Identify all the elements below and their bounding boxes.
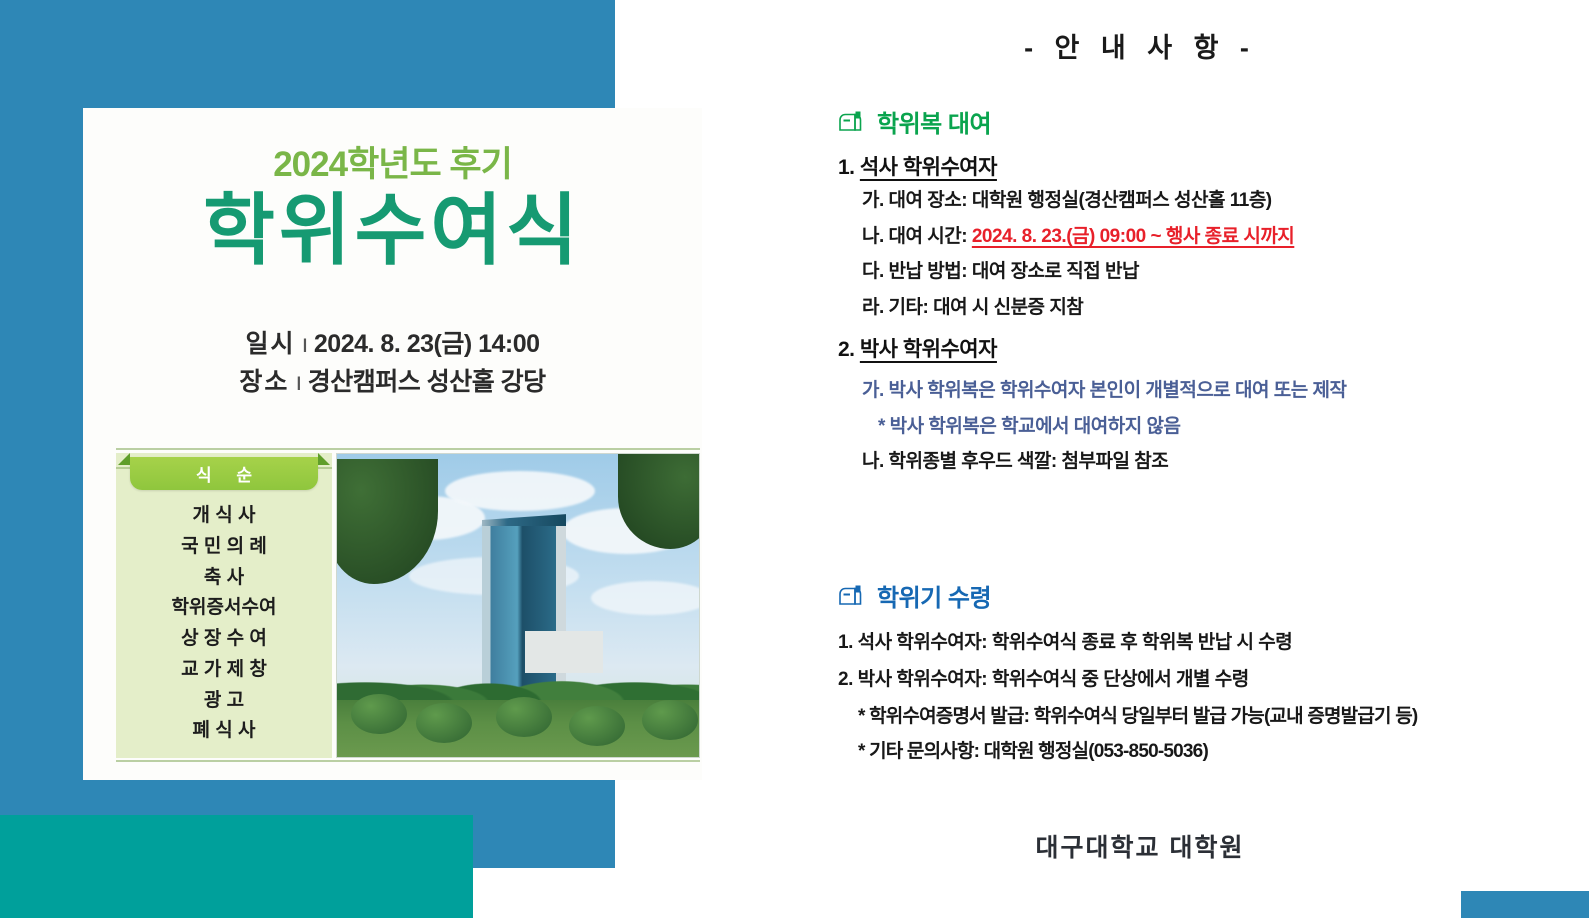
pickup-master-line: 1. 석사 학위수여자: 학위수여식 종료 후 학위복 반납 시 수령 [838, 627, 1538, 654]
section-2-header: 학위기 수령 [838, 578, 1538, 613]
background-teal-block [0, 815, 473, 918]
program-item: 학위증서수여 [116, 593, 332, 624]
poster-title: 학위수여식 [83, 186, 702, 276]
program-item: 국 민 의 례 [116, 532, 332, 563]
rental-time-prefix: 나. 대여 시간: [862, 226, 972, 247]
program-banner-label: 식 순 [130, 457, 318, 490]
rental-place-line: 가. 대여 장소: 대학원 행정실(경산캠퍼스 성산홀 11층) [862, 187, 1538, 215]
rental-time-highlight: 2024. 8. 23.(금) 09:00 ~ 행사 종료 시까지 [972, 226, 1294, 247]
rental-time-line: 나. 대여 시간: 2024. 8. 23.(금) 09:00 ~ 행사 종료 … [862, 223, 1538, 251]
poster-year-line: 2024학년도 후기 [83, 136, 702, 187]
item-number: 2. [838, 338, 855, 361]
program-item: 축 사 [116, 563, 332, 594]
info-column: - 안 내 사 항 - 학위복 대여 1. 석사 학위수여자 가. 대여 [790, 0, 1580, 918]
section-1-item-1-number: 1. 석사 학위수여자 [838, 151, 1538, 181]
section-1-header: 학위복 대여 [838, 104, 1538, 139]
item-number: 1. [838, 156, 855, 179]
section-1-item-2-number: 2. 박사 학위수여자 [838, 333, 1538, 363]
program-order-list: 개 식 사 국 민 의 례 축 사 학위증서수여 상 장 수 여 교 가 제 창… [116, 501, 332, 747]
section-gown-rental: 학위복 대여 1. 석사 학위수여자 가. 대여 장소: 대학원 행정실(경산캠… [838, 104, 1538, 484]
program-item: 상 장 수 여 [116, 624, 332, 655]
item-label: 박사 학위수여자 [860, 338, 997, 361]
poster-meta: 일시ı2024. 8. 23(금) 14:00 장소ı경산캠퍼스 성산홀 강당 [83, 326, 702, 401]
rental-other-line: 라. 기타: 대여 시 신분증 지참 [862, 294, 1538, 322]
poster-sep-2: ı [289, 368, 307, 396]
program-item: 개 식 사 [116, 501, 332, 532]
doctoral-gown-line: 가. 박사 학위복은 학위수여자 본인이 개별적으로 대여 또는 제작 [862, 377, 1538, 405]
section-diploma-pickup: 학위기 수령 1. 석사 학위수여자: 학위수여식 종료 후 학위복 반납 시 … [838, 578, 1538, 771]
poster-place-row: 장소ı경산캠퍼스 성산홀 강당 [83, 364, 702, 402]
poster-datetime-row: 일시ı2024. 8. 23(금) 14:00 [83, 326, 702, 364]
program-item: 교 가 제 창 [116, 655, 332, 686]
poster-place-value: 경산캠퍼스 성산홀 강당 [308, 368, 546, 396]
rental-return-line: 다. 반납 방법: 대여 장소로 직접 반납 [862, 258, 1538, 286]
poster-sep-1: ı [295, 330, 313, 358]
section-2-heading: 학위기 수령 [877, 578, 991, 613]
section-1-heading: 학위복 대여 [877, 104, 991, 139]
event-poster-card: 2024학년도 후기 학위수여식 일시ı2024. 8. 23(금) 14:00… [83, 108, 702, 780]
poster-divider-top [116, 448, 700, 450]
program-order-panel: 식 순 개 식 사 국 민 의 례 축 사 학위증서수여 상 장 수 여 교 가… [116, 453, 332, 758]
mailbox-icon [838, 111, 864, 133]
item-label: 석사 학위수여자 [860, 156, 997, 179]
mailbox-icon [838, 585, 864, 607]
pickup-doctoral-line: 2. 박사 학위수여자: 학위수여식 중 단상에서 개별 수령 [838, 664, 1538, 691]
certificate-issue-note: * 학위수여증명서 발급: 학위수여식 당일부터 발급 가능(교내 증명발급기 … [858, 701, 1538, 728]
footer-organization: 대구대학교 대학원 [790, 828, 1490, 864]
contact-note: * 기타 문의사항: 대학원 행정실(053-850-5036) [858, 736, 1538, 763]
hood-color-line: 나. 학위종별 후우드 색깔: 첨부파일 참조 [862, 448, 1538, 476]
poster-divider-bottom [116, 760, 700, 762]
campus-photo [336, 453, 700, 758]
poster-bottom-row: 식 순 개 식 사 국 민 의 례 축 사 학위증서수여 상 장 수 여 교 가… [116, 453, 700, 758]
doctoral-gown-note: * 박사 학위복은 학교에서 대여하지 않음 [878, 413, 1538, 441]
program-item: 광 고 [116, 686, 332, 717]
program-item: 폐 식 사 [116, 716, 332, 747]
poster-place-label: 장소 [239, 368, 289, 396]
slide-canvas: 2024학년도 후기 학위수여식 일시ı2024. 8. 23(금) 14:00… [0, 0, 1589, 918]
poster-datetime-label: 일시 [245, 330, 295, 358]
info-title: - 안 내 사 항 - [790, 26, 1490, 65]
poster-datetime-value: 2024. 8. 23(금) 14:00 [314, 330, 540, 358]
